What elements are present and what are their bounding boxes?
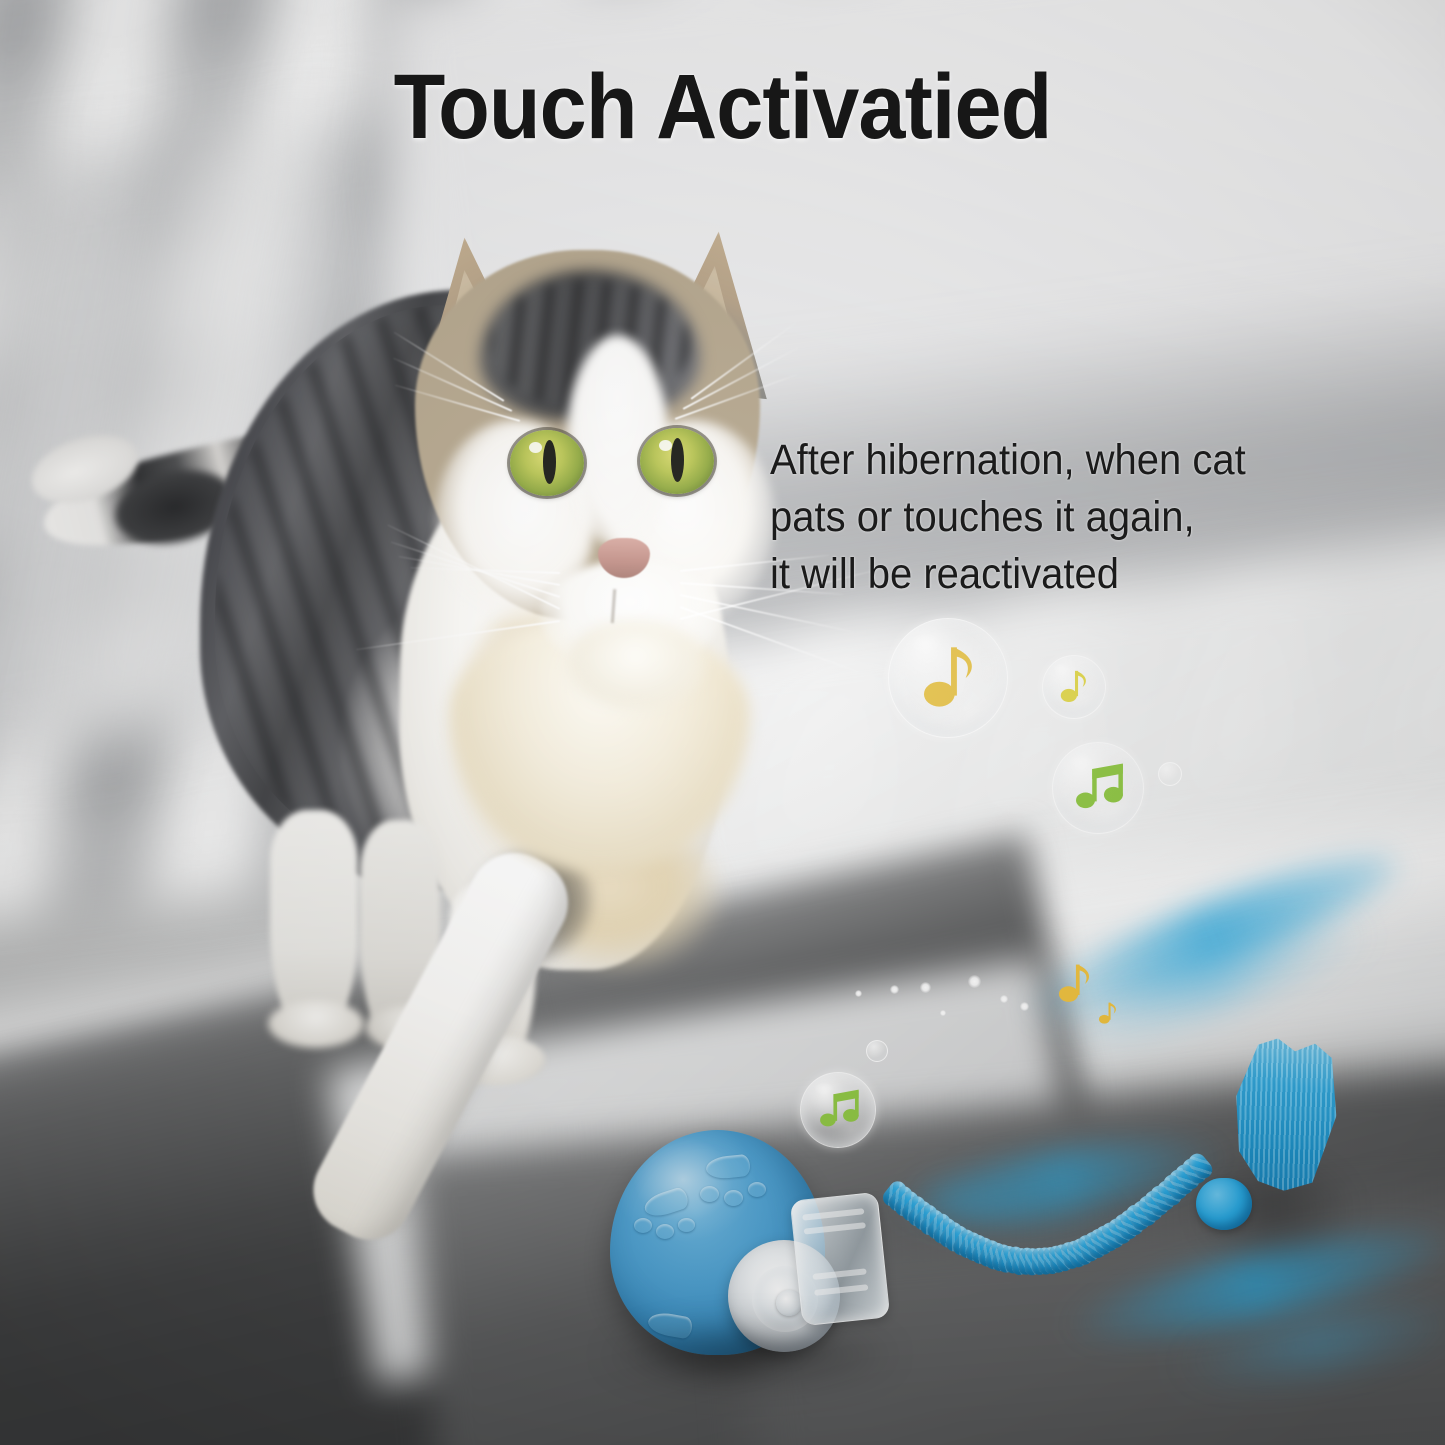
sparkle-dot xyxy=(940,1010,946,1016)
eighth-note-icon xyxy=(913,640,986,713)
paw-emboss-icon xyxy=(700,1186,719,1202)
cat-mouth xyxy=(611,589,642,625)
cat-hind-paw xyxy=(268,1000,364,1048)
eighth-note-icon xyxy=(1055,667,1093,705)
feature-description-line: pats or touches it again, xyxy=(770,489,1365,546)
floating-note-medium xyxy=(1052,960,1098,1011)
small-bubble xyxy=(1158,762,1182,786)
cat-eye-highlight xyxy=(659,440,672,451)
toy-ball-shadow xyxy=(600,1320,900,1390)
paw-emboss-icon xyxy=(724,1190,743,1206)
feature-description-line: After hibernation, when cat xyxy=(770,432,1365,489)
paw-emboss-icon xyxy=(634,1218,652,1233)
sparkle-dot xyxy=(1000,995,1008,1003)
music-bubble-large xyxy=(888,618,1008,738)
sparkle-dot xyxy=(968,975,981,988)
sparkle-dot xyxy=(855,990,862,997)
paw-emboss-icon xyxy=(656,1224,674,1239)
sparkle-dot xyxy=(1020,1002,1029,1011)
cat-pupil-left xyxy=(543,440,556,484)
feature-description: After hibernation, when cat pats or touc… xyxy=(770,432,1365,604)
eighth-note-icon xyxy=(1052,960,1098,1006)
toy-rope-clip xyxy=(790,1192,891,1327)
toy-wheel-hub xyxy=(776,1290,802,1316)
rope-knot xyxy=(1196,1178,1252,1230)
eighth-note-icon xyxy=(1095,1000,1121,1026)
cat-photo xyxy=(20,120,820,1200)
product-marketing-poster: Touch Activatied After hibernation, when… xyxy=(0,0,1445,1445)
floating-note-tiny xyxy=(1095,1000,1121,1031)
music-bubble-small xyxy=(1042,655,1106,719)
cat-chin xyxy=(565,620,705,710)
page-title: Touch Activatied xyxy=(58,55,1387,160)
paw-emboss-icon xyxy=(748,1182,766,1197)
sparkle-dot xyxy=(920,982,931,993)
sparkle-dot xyxy=(890,985,899,994)
cat-pupil-right xyxy=(671,438,684,482)
small-bubble xyxy=(866,1040,888,1062)
cat-eye-highlight xyxy=(529,442,542,453)
paw-emboss-icon xyxy=(678,1218,695,1232)
feature-description-line: it will be reactivated xyxy=(770,546,1365,603)
music-bubble-green xyxy=(1052,742,1144,834)
beamed-note-icon xyxy=(1071,759,1127,815)
